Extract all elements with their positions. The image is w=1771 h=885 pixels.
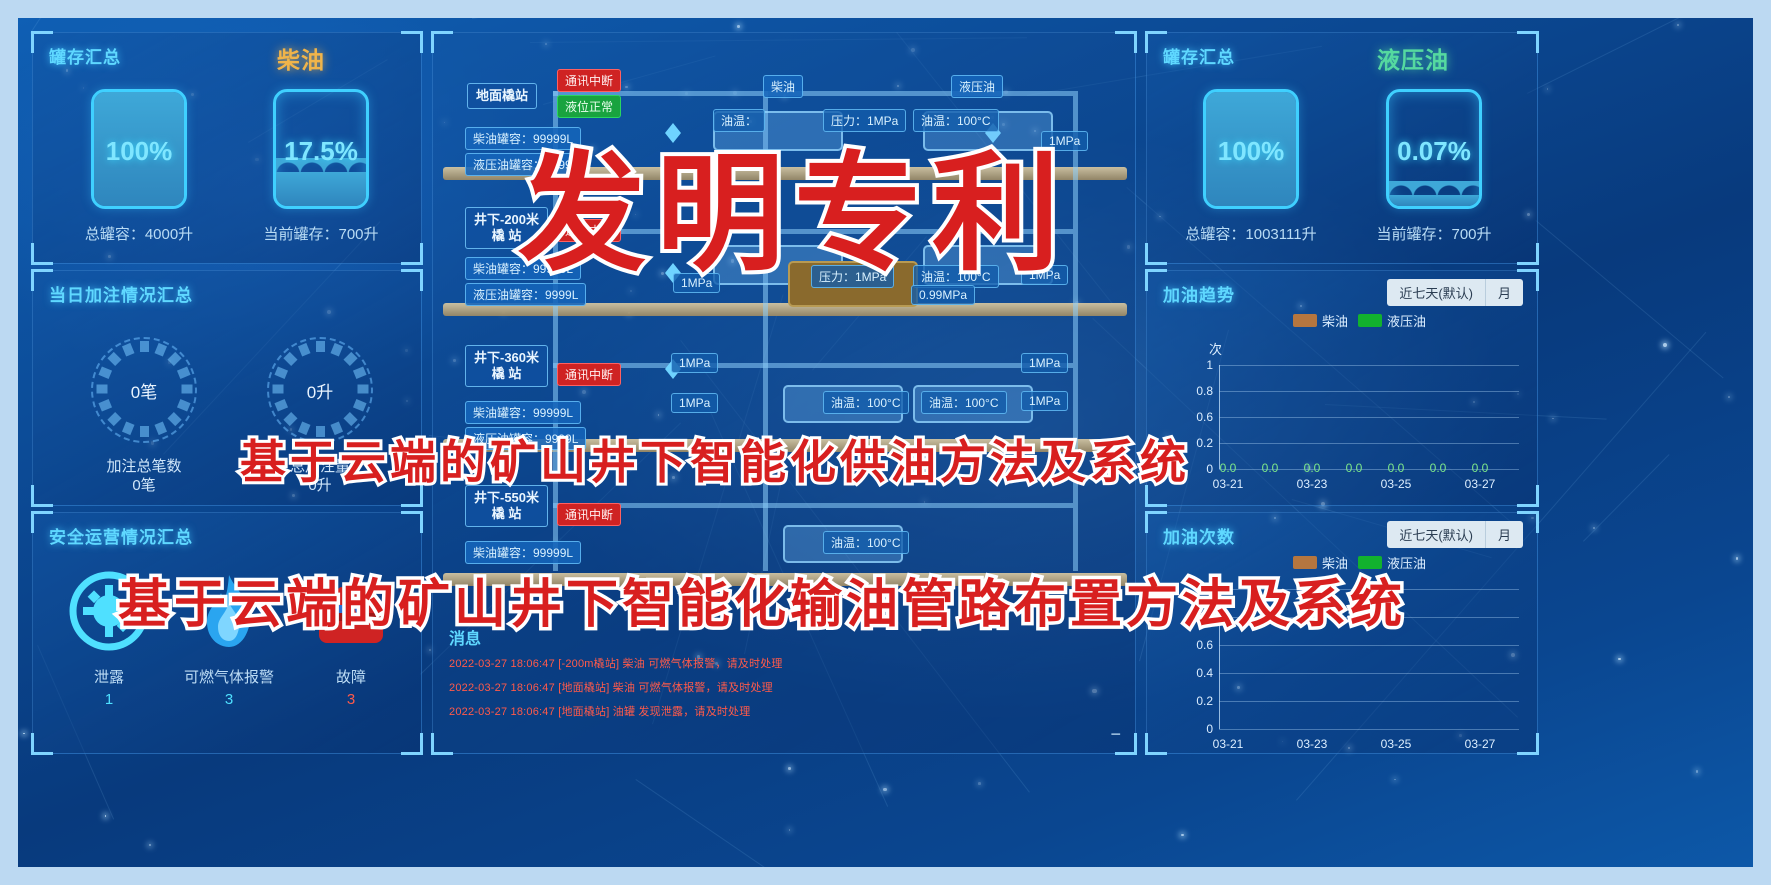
tank-percent: 0.07% — [1389, 136, 1479, 167]
tank-percent: 100% — [94, 136, 184, 167]
legend-label: 柴油 — [1322, 311, 1348, 330]
station-tag-diesel-capacity: 柴油罐容：99999L — [465, 541, 581, 564]
x-tick: 03-23 — [1289, 737, 1335, 751]
y-tick: 0.6 — [1179, 410, 1213, 424]
x-tick: 03-21 — [1205, 737, 1251, 751]
tank-graphic: 100% — [1203, 89, 1299, 209]
data-label: 0.0 — [1379, 461, 1413, 475]
gridline — [1219, 417, 1519, 418]
chart-plot-area: 1 0.8 0.6 0.2 0 0.0 0.0 0.0 0.0 0.0 0.0 … — [1219, 365, 1519, 469]
tank-percent: 100% — [1206, 136, 1296, 167]
label-oil-hydraulic: 液压油 — [951, 75, 1003, 98]
station-status-comm: 通讯中断 — [557, 363, 621, 386]
gridline — [1219, 443, 1519, 444]
gridline — [1219, 673, 1519, 674]
station-status-comm: 通讯中断 — [557, 69, 621, 92]
x-tick: 03-27 — [1457, 737, 1503, 751]
tank-graphic: 17.5% — [273, 89, 369, 209]
y-tick: 0.2 — [1179, 694, 1213, 708]
dashboard-screenshot: 罐存汇总 柴油 100% 总罐容：4000升 17.5% 当前罐存：700升 — [0, 0, 1771, 885]
tank-wave — [1389, 181, 1479, 197]
tank-caption: 总罐容：4000升 — [79, 223, 199, 244]
tag-oil-temp: 油温：100°C — [823, 531, 909, 554]
gauge-count-label: 加注总笔数 0笔 — [44, 457, 244, 495]
data-label: 0.0 — [1211, 461, 1245, 475]
tag-oil-temp: 油温：100°C — [921, 391, 1007, 414]
y-axis-unit: 次 — [1209, 339, 1222, 358]
dashboard-canvas: 罐存汇总 柴油 100% 总罐容：4000升 17.5% 当前罐存：700升 — [18, 18, 1753, 867]
y-tick: 0.4 — [1179, 666, 1213, 680]
range-option-month[interactable]: 月 — [1485, 521, 1523, 548]
x-tick: 03-25 — [1373, 737, 1419, 751]
gauge-label-line2: 0笔 — [44, 476, 244, 495]
tag-oil-temp: 油温：100°C — [823, 391, 909, 414]
safety-count: 3 — [159, 691, 299, 708]
station-surface[interactable]: 地面橇站 — [467, 83, 537, 109]
gridline — [1219, 391, 1519, 392]
tag-pressure: 1MPa — [1021, 353, 1068, 373]
data-label: 0.0 — [1337, 461, 1371, 475]
pipe-horizontal — [553, 503, 1073, 508]
pipe-horizontal — [553, 363, 1073, 368]
x-tick: 03-25 — [1373, 477, 1419, 491]
time-range-selector[interactable]: 近七天(默认) 月 — [1387, 521, 1523, 548]
tank-total-capacity: 100% 总罐容：1003111升 — [1171, 89, 1331, 244]
panel-subtitle-diesel: 柴油 — [277, 41, 325, 75]
panel-title: 罐存汇总 — [49, 43, 121, 68]
gauge-value: 0笔 — [69, 315, 219, 465]
gridline — [1219, 365, 1519, 366]
panel-title: 加油趋势 — [1163, 281, 1235, 306]
gauge-label-line1: 加注总笔数 — [44, 457, 244, 476]
data-label: 0.0 — [1421, 461, 1455, 475]
message-row: 2022-03-27 18:06:47 [地面橇站] 柴油 可燃气体报警，请及时… — [449, 679, 773, 695]
panel-title: 当日加注情况汇总 — [49, 281, 193, 306]
legend-item-hydraulic: 液压油 — [1358, 311, 1426, 330]
safety-count: 3 — [281, 691, 421, 708]
tank-graphic: 100% — [91, 89, 187, 209]
watermark-patent-line1: 基于云端的矿山井下智能化供油方法及系统 — [240, 426, 1190, 492]
y-tick: 0.6 — [1179, 638, 1213, 652]
legend-label: 液压油 — [1387, 311, 1426, 330]
y-tick: 1 — [1179, 358, 1213, 372]
label-oil-diesel: 柴油 — [763, 75, 803, 98]
data-label: 0.0 — [1463, 461, 1497, 475]
range-option-month[interactable]: 月 — [1485, 279, 1523, 306]
gridline — [1219, 729, 1519, 730]
station-minus-360[interactable]: 井下-360米 橇 站 — [465, 345, 548, 387]
tag-pressure: 1MPa — [671, 353, 718, 373]
safety-label: 泄露 — [39, 666, 179, 687]
tank-graphic: 0.07% — [1386, 89, 1482, 209]
legend-swatch — [1358, 314, 1382, 327]
safety-label: 故障 — [281, 666, 421, 687]
panel-title: 安全运营情况汇总 — [49, 523, 193, 548]
tank-caption: 当前罐存：700升 — [251, 223, 391, 244]
watermark-patent-title: 发明专利 — [518, 110, 1070, 295]
panel-subtitle-hydraulic: 液压油 — [1377, 41, 1449, 75]
legend-item-diesel: 柴油 — [1293, 311, 1348, 330]
range-option-seven-days[interactable]: 近七天(默认) — [1387, 521, 1485, 548]
station-status-comm: 通讯中断 — [557, 503, 621, 526]
panel-diesel-tank-summary: 罐存汇总 柴油 100% 总罐容：4000升 17.5% 当前罐存：700升 — [32, 32, 422, 264]
tank-caption: 当前罐存：700升 — [1359, 223, 1509, 244]
message-row: 2022-03-27 18:06:47 [地面橇站] 油罐 发现泄露，请及时处理 — [449, 703, 750, 719]
legend-swatch — [1293, 314, 1317, 327]
data-label: 0.0 — [1253, 461, 1287, 475]
gridline — [1219, 645, 1519, 646]
tank-percent: 17.5% — [276, 136, 366, 167]
range-option-seven-days[interactable]: 近七天(默认) — [1387, 279, 1485, 306]
collapse-icon[interactable]: − — [1110, 724, 1121, 745]
panel-title: 加油次数 — [1163, 523, 1235, 548]
tank-caption: 总罐容：1003111升 — [1171, 223, 1331, 244]
watermark-patent-line2: 基于云端的矿山井下智能化输油管路布置方法及系统 — [118, 562, 1406, 637]
tank-total-capacity: 100% 总罐容：4000升 — [79, 89, 199, 244]
tank-current-stock: 17.5% 当前罐存：700升 — [251, 89, 391, 244]
data-label: 0.0 — [1295, 461, 1329, 475]
gauge-refuel-count: 0笔 — [69, 315, 219, 465]
tag-pressure: 1MPa — [1021, 391, 1068, 411]
safety-label: 可燃气体报警 — [159, 666, 299, 687]
panel-refuel-trend-chart: 加油趋势 近七天(默认) 月 柴油 液压油 次 — [1146, 270, 1538, 506]
safety-count: 1 — [39, 691, 179, 708]
tank-fill — [276, 172, 366, 206]
x-tick: 03-23 — [1289, 477, 1335, 491]
x-tick: 03-27 — [1457, 477, 1503, 491]
pipe-riser-right — [1073, 91, 1078, 571]
tank-current-stock: 0.07% 当前罐存：700升 — [1359, 89, 1509, 244]
tag-pressure: 1MPa — [671, 393, 718, 413]
x-tick: 03-21 — [1205, 477, 1251, 491]
message-row: 2022-03-27 18:06:47 [-200m橇站] 柴油 可燃气体报警，… — [449, 655, 783, 671]
y-tick: 0 — [1179, 722, 1213, 736]
chart-legend: 柴油 液压油 — [1293, 311, 1426, 330]
gridline — [1219, 701, 1519, 702]
time-range-selector[interactable]: 近七天(默认) 月 — [1387, 279, 1523, 306]
y-tick: 0.8 — [1179, 384, 1213, 398]
panel-title: 罐存汇总 — [1163, 43, 1235, 68]
panel-hydraulic-tank-summary: 罐存汇总 液压油 100% 总罐容：1003111升 0.07% 当前罐存：70… — [1146, 32, 1538, 264]
station-tag-diesel-capacity: 柴油罐容：99999L — [465, 401, 581, 424]
